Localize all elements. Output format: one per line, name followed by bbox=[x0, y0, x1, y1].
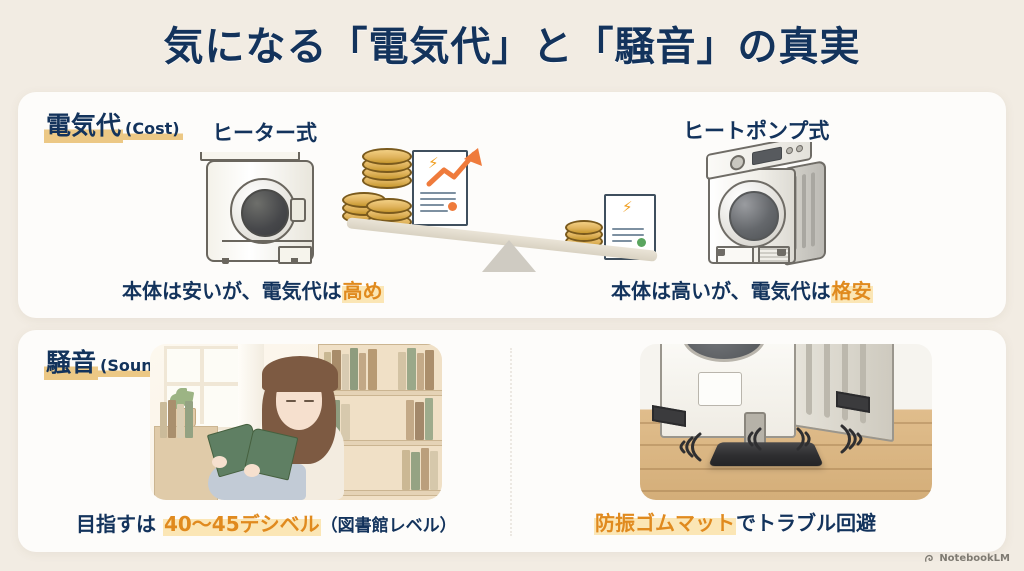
anti-vibration-rubber-mat-illustration bbox=[640, 344, 932, 500]
notebooklm-watermark-label: NotebookLM bbox=[939, 553, 1010, 564]
caption-rubber-mat: 防振ゴムマットでトラブル回避 bbox=[594, 511, 876, 535]
front-loading-dryer-icon bbox=[196, 152, 322, 266]
section-label-cost-kanji: 電気代 bbox=[44, 111, 123, 143]
caption-decibel: 目指すは 40〜45デシベル（図書館レベル） bbox=[76, 512, 457, 536]
caption-heater-prefix: 本体は安いが、電気代は bbox=[122, 279, 342, 303]
section-label-sound-kanji: 騒音 bbox=[44, 348, 98, 380]
balance-scale-icon: ⚡ ⚡ bbox=[334, 142, 664, 272]
card-column-divider bbox=[510, 348, 512, 536]
section-label-cost-latin: (Cost) bbox=[123, 119, 183, 140]
caption-decibel-prefix: 目指すは bbox=[76, 512, 156, 536]
caption-decibel-highlight: 40〜45デシベル bbox=[163, 512, 321, 536]
caption-heatpump: 本体は高いが、電気代は格安 bbox=[611, 279, 873, 303]
caption-rubber-mat-suffix: でトラブル回避 bbox=[736, 511, 876, 535]
section-label-cost: 電気代(Cost) bbox=[44, 113, 183, 138]
caption-heatpump-prefix: 本体は高いが、電気代は bbox=[611, 279, 831, 303]
rising-cost-arrow-icon bbox=[426, 146, 486, 188]
vibration-lines-center-icon bbox=[744, 426, 770, 452]
vibration-lines-inner-right-icon bbox=[788, 426, 814, 452]
caption-heater: 本体は安いが、電気代は高め bbox=[122, 279, 384, 303]
notebooklm-spiral-icon bbox=[924, 553, 935, 564]
column-header-heater: ヒーター式 bbox=[212, 117, 317, 147]
caption-heater-highlight: 高め bbox=[342, 279, 384, 303]
vibration-lines-left-icon bbox=[670, 430, 710, 464]
caption-decibel-suffix: （図書館レベル） bbox=[321, 516, 457, 536]
vibration-lines-right-icon bbox=[832, 422, 872, 456]
green-status-dot bbox=[637, 238, 646, 247]
caption-heatpump-highlight: 格安 bbox=[831, 279, 873, 303]
woman-reading-book-illustration bbox=[150, 344, 442, 500]
lightning-bolt-icon: ⚡ bbox=[622, 200, 633, 215]
caption-rubber-mat-highlight: 防振ゴムマット bbox=[594, 511, 736, 535]
orange-status-dot bbox=[448, 202, 457, 211]
heat-pump-dryer-icon bbox=[698, 142, 834, 272]
notebooklm-watermark: NotebookLM bbox=[924, 553, 1010, 564]
page-title: 気になる「電気代」と「騒音」の真実 bbox=[0, 14, 1024, 72]
column-header-heatpump: ヒートポンプ式 bbox=[683, 115, 829, 145]
balance-fulcrum bbox=[482, 240, 536, 272]
